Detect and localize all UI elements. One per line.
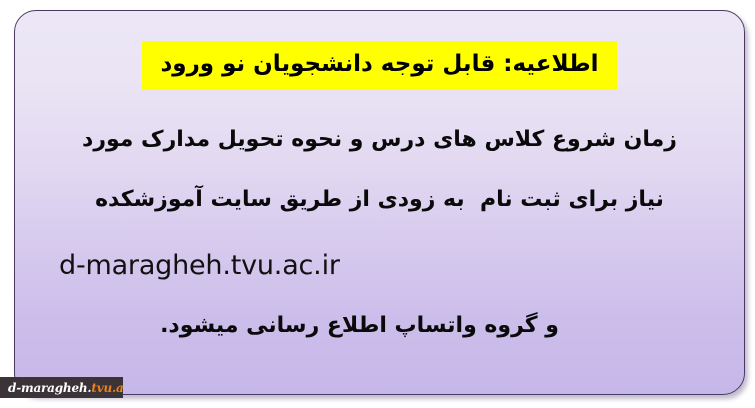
notice-body-line-2: نیاز برای ثبت نام به زودی از طریق سایت آ… bbox=[15, 188, 744, 212]
announcement-image: اطلاعیه: قابل توجه دانشجویان نو ورود زما… bbox=[0, 0, 755, 408]
notice-body-line-3: و گروه واتساپ اطلاع رسانی میشود. bbox=[15, 314, 744, 338]
notice-title: اطلاعیه: قابل توجه دانشجویان نو ورود bbox=[142, 41, 616, 90]
notice-body-line-1: زمان شروع کلاس های درس و نحوه تحویل مدار… bbox=[15, 128, 744, 152]
notice-website-url[interactable]: d-maragheh.tvu.ac.ir bbox=[59, 251, 340, 281]
watermark-site-domain: tvu.ac.ir bbox=[91, 381, 123, 395]
notice-card: اطلاعیه: قابل توجه دانشجویان نو ورود زما… bbox=[14, 10, 745, 395]
watermark: d-maragheh.tvu.ac.ir bbox=[0, 377, 123, 398]
notice-title-row: اطلاعیه: قابل توجه دانشجویان نو ورود bbox=[15, 41, 744, 90]
watermark-site-name: d-maragheh. bbox=[8, 381, 91, 395]
